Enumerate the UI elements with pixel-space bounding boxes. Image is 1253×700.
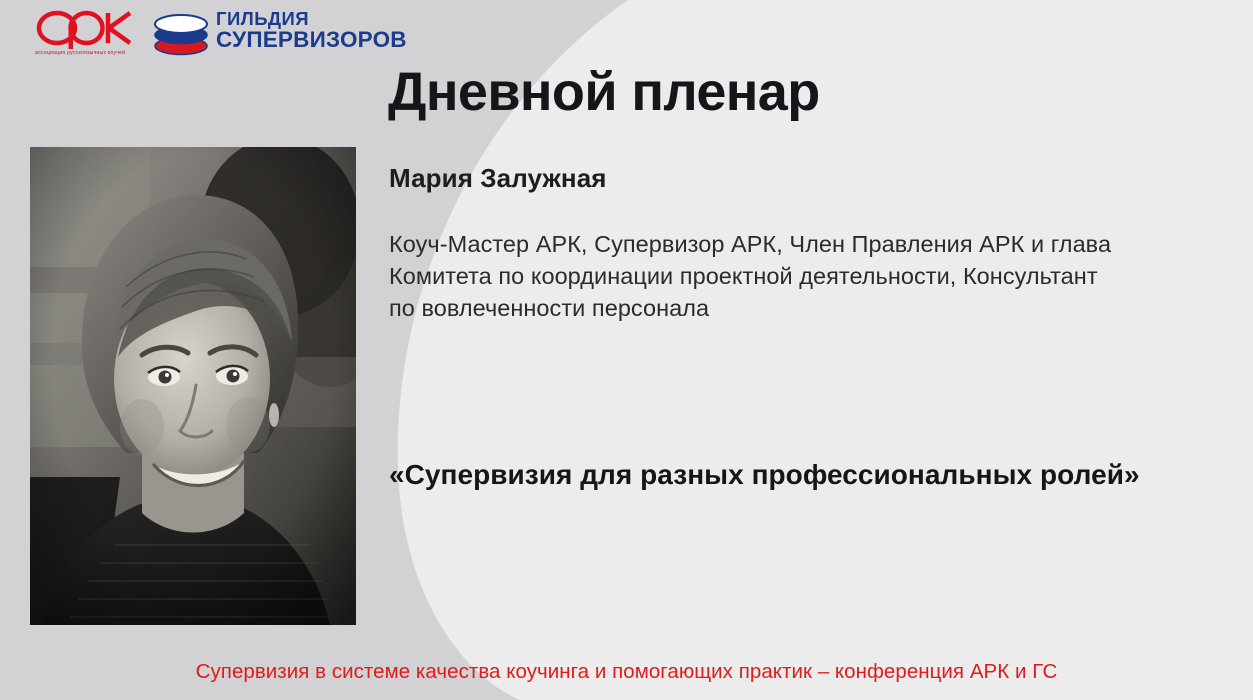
footer-conference-text: Супервизия в системе качества коучинга и…	[196, 660, 1058, 684]
page-title: Дневной пленар	[388, 64, 820, 121]
presentation-slide: ассоциация русскоязычных коучей ГИЛЬДИЯ …	[0, 0, 1253, 700]
speaker-name: Мария Залужная	[389, 163, 607, 194]
guild-logo: ГИЛЬДИЯ СУПЕРВИЗОРОВ	[152, 9, 392, 61]
ark-logo: ассоциация русскоязычных коучей	[34, 6, 134, 64]
logo-bar: ассоциация русскоязычных коучей ГИЛЬДИЯ …	[0, 0, 420, 70]
ark-logo-icon	[34, 6, 134, 50]
speaker-photo-image	[30, 147, 356, 625]
guild-logo-line-2: СУПЕРВИЗОРОВ	[216, 29, 407, 51]
speaker-photo	[30, 147, 356, 625]
guild-logo-wordmark: ГИЛЬДИЯ СУПЕРВИЗОРОВ	[216, 10, 407, 51]
guild-logo-line-1: ГИЛЬДИЯ	[216, 10, 407, 28]
talk-title: «Супервизия для разных профессиональных …	[389, 456, 1159, 493]
ark-logo-tagline: ассоциация русскоязычных коучей	[35, 50, 139, 56]
guild-logo-icon	[152, 11, 210, 57]
speaker-bio: Коуч-Мастер АРК, Супервизор АРК, Член Пр…	[389, 228, 1119, 325]
slide-footer: Супервизия в системе качества коучинга и…	[0, 644, 1253, 700]
slide-content: Дневной пленар Мария Залужная Коуч-Масте…	[388, 0, 1228, 700]
